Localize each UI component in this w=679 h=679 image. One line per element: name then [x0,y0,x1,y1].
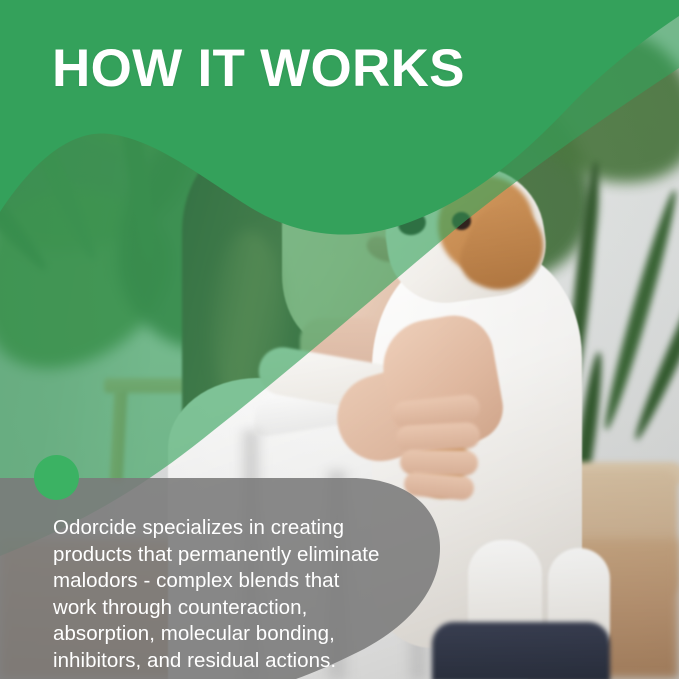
body-paragraph: Odorcide specializes in creating product… [53,515,383,674]
promo-graphic: HOW IT WORKS Odorcide specializes in cre… [0,0,679,679]
woman-finger [395,422,480,452]
jeans [432,622,610,679]
green-accent-dot [34,455,79,500]
dog-eye [404,186,420,201]
page-title: HOW IT WORKS [52,41,465,97]
dog-eye [452,212,471,230]
